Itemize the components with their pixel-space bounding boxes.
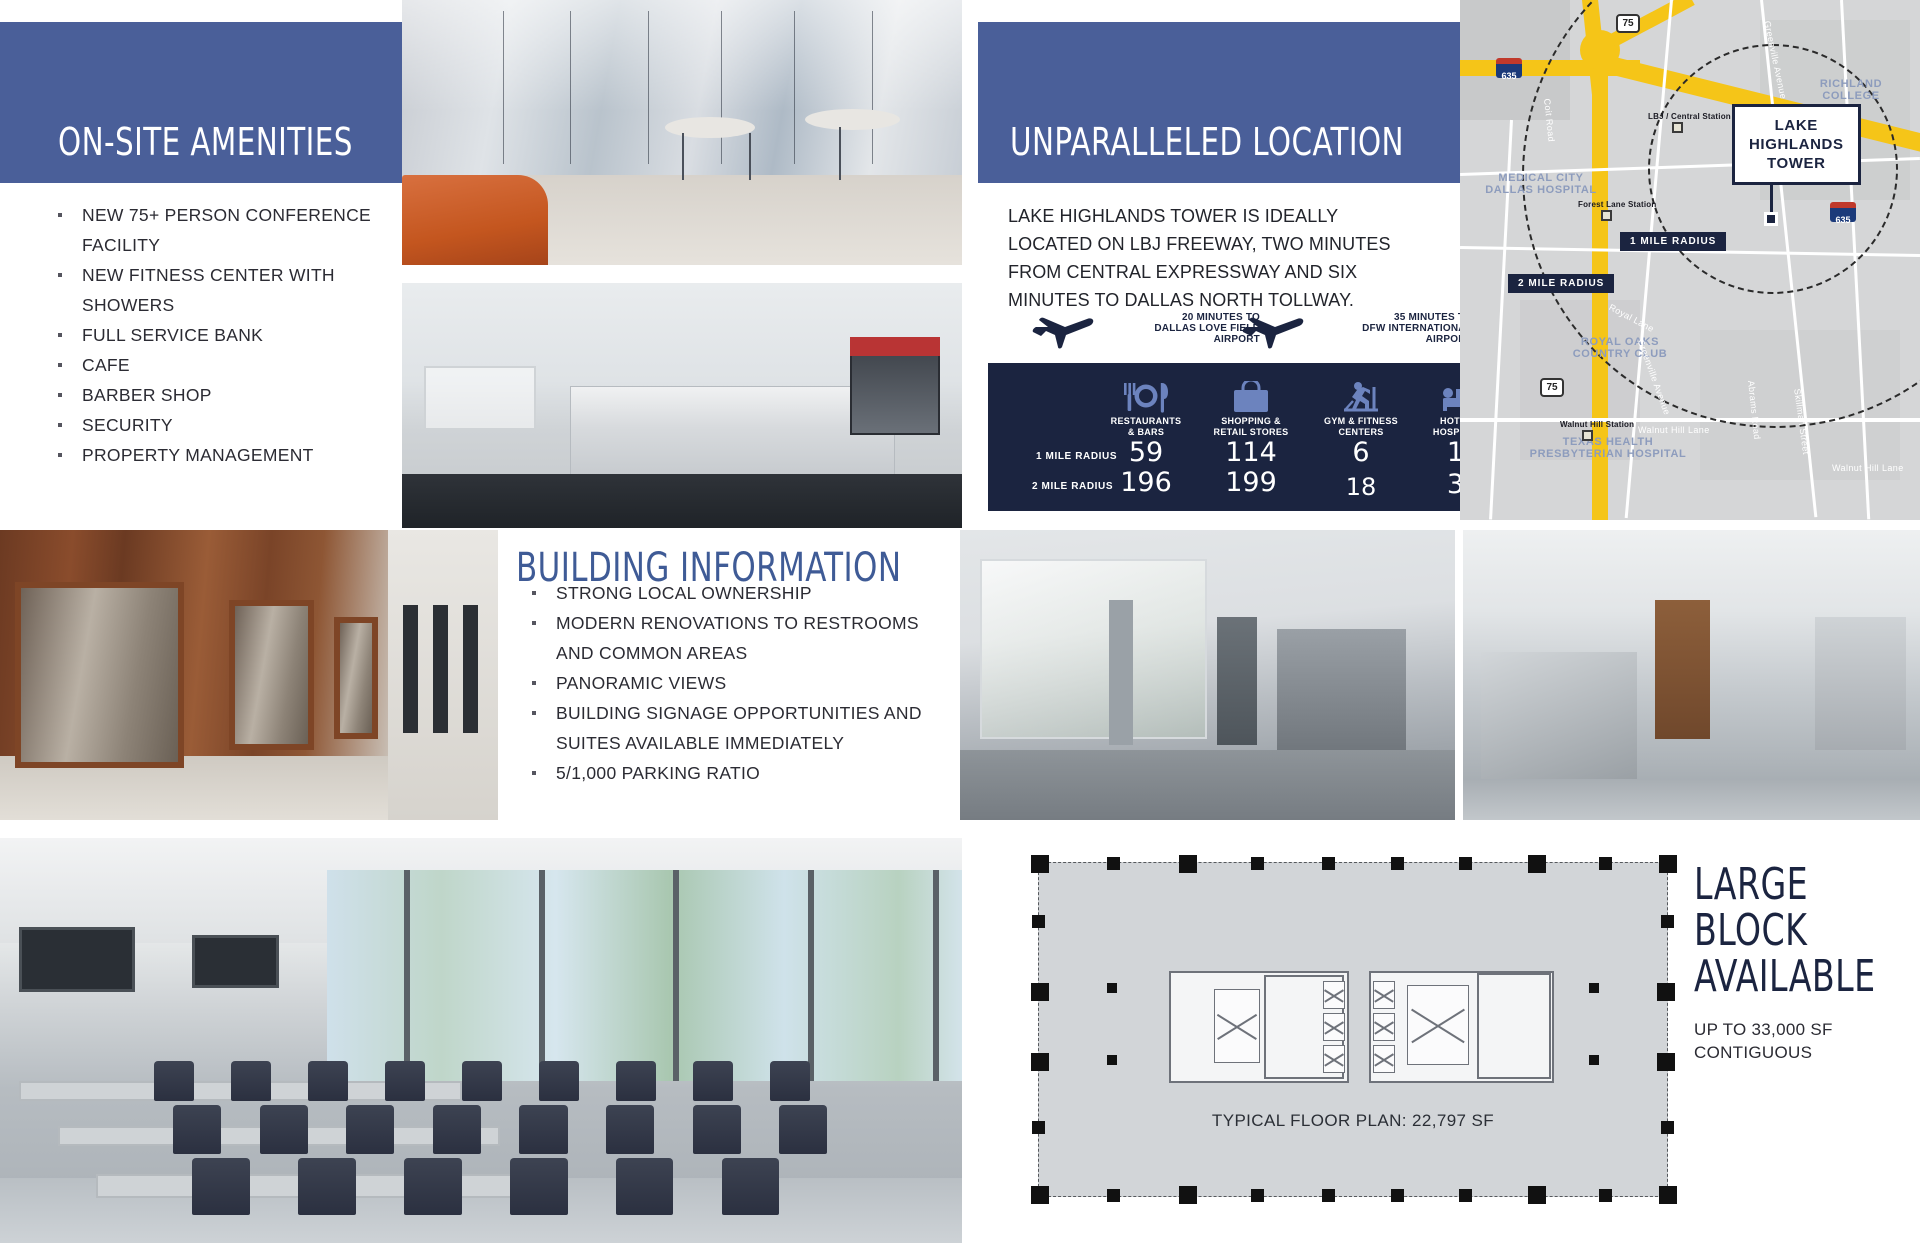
floor-plan-elev-e3 [1373, 1045, 1395, 1073]
demo-value: 59 [1100, 437, 1192, 468]
airplane-icon [1030, 306, 1096, 350]
map-tower-callout: LAKE HIGHLANDS TOWER [1732, 104, 1861, 185]
map-tower-marker [1764, 212, 1778, 226]
floor-plan-elev-e2 [1373, 1013, 1395, 1041]
typical-floor-plan[interactable]: TYPICAL FLOOR PLAN: 22,797 SF [1038, 862, 1668, 1197]
map-station-marker [1582, 430, 1593, 441]
floor-plan-elev-w2 [1323, 1013, 1345, 1041]
list-item: 5/1,000 PARKING RATIO [518, 758, 938, 788]
demo-value: 18 [1310, 473, 1412, 501]
demographics-panel: RESTAURANTS & BARS SHOPPING & RETAIL STO… [988, 363, 1508, 511]
map-tag-1-mile: 1 MILE RADIUS [1620, 232, 1726, 251]
location-title: UNPARALLELED LOCATION [1010, 123, 1404, 161]
highway-shield-75: 75 [1616, 14, 1640, 33]
tower-line-1: LAKE [1749, 116, 1844, 135]
treadmill-icon [1338, 381, 1384, 413]
large-block-sub-1: UP TO 33,000 SF [1694, 1018, 1914, 1041]
map-place-medical-city: MEDICAL CITYDALLAS HOSPITAL [1476, 172, 1606, 196]
brochure-page: ON-SITE AMENITIES NEW 75+ PERSON CONFERE… [0, 0, 1920, 1243]
map-station-marker [1601, 210, 1612, 221]
elevator-lobby-photo [0, 530, 498, 820]
airport-line-3: AIRPORT [1306, 334, 1472, 345]
map-station-label-forest: Forest Lane Station [1578, 200, 1656, 209]
list-item: FULL SERVICE BANK [44, 320, 414, 350]
large-block-callout: LARGE BLOCK AVAILABLE UP TO 33,000 SF CO… [1694, 862, 1914, 1064]
floor-plan-elev-e1 [1373, 981, 1395, 1009]
demo-value: 6 [1310, 437, 1412, 468]
floor-plan-stairs-e [1477, 973, 1551, 1079]
map-street-walnut-hill-2: Walnut Hill Lane [1832, 463, 1904, 473]
airport-love-field-text: 20 MINUTES TO DALLAS LOVE FIELD AIRPORT [1096, 312, 1260, 345]
list-item: SECURITY [44, 410, 414, 440]
demo-value: 114 [1196, 437, 1306, 468]
airport-line-1: 35 MINUTES TO [1306, 312, 1472, 323]
map-station-marker [1672, 122, 1683, 133]
list-item: MODERN RENOVATIONS TO RESTROOMS AND COMM… [518, 608, 938, 668]
floor-plan-caption: TYPICAL FLOOR PLAN: 22,797 SF [1039, 1111, 1667, 1131]
highway-shield-75: 75 [1540, 378, 1564, 397]
list-item: BUILDING SIGNAGE OPPORTUNITIES AND SUITE… [518, 698, 938, 758]
airport-line-3: AIRPORT [1096, 334, 1260, 345]
demo-col-gym: GYM & FITNESS CENTERS [1310, 381, 1412, 438]
airport-line-2: DFW INTERNATIONAL [1306, 323, 1472, 334]
map-place-royal-oaks: ROYAL OAKSCOUNTRY CLUB [1560, 336, 1680, 360]
airport-love-field: 20 MINUTES TO DALLAS LOVE FIELD AIRPORT [1030, 300, 1260, 356]
airport-line-1: 20 MINUTES TO [1096, 312, 1260, 323]
airport-dfw-text: 35 MINUTES TO DFW INTERNATIONAL AIRPORT [1306, 312, 1472, 345]
tower-line-3: TOWER [1749, 154, 1844, 173]
list-item: PROPERTY MANAGEMENT [44, 440, 414, 470]
location-header-bar: UNPARALLELED LOCATION [978, 22, 1460, 183]
map-tag-2-mile: 2 MILE RADIUS [1508, 274, 1614, 293]
large-block-line-3: AVAILABLE [1694, 954, 1879, 1000]
map-station-label-walnut: Walnut Hill Station [1560, 420, 1634, 429]
fitness-center-photo-1 [960, 530, 1455, 820]
list-item: NEW 75+ PERSON CONFERENCE FACILITY [44, 200, 414, 260]
large-block-line-1: LARGE [1694, 862, 1879, 908]
list-item: NEW FITNESS CENTER WITH SHOWERS [44, 260, 414, 320]
list-item: STRONG LOCAL OWNERSHIP [518, 578, 938, 608]
amenities-list: NEW 75+ PERSON CONFERENCE FACILITY NEW F… [44, 200, 414, 470]
amenities-header-bar: ON-SITE AMENITIES [0, 22, 452, 183]
fitness-center-photo-2 [1463, 530, 1920, 820]
demo-col-shopping: SHOPPING & RETAIL STORES [1196, 381, 1306, 438]
highway-shield-635: 635 [1496, 58, 1522, 78]
floor-plan-elev-w3 [1323, 1045, 1345, 1073]
demo-col-restaurants: RESTAURANTS & BARS [1100, 381, 1192, 438]
tower-line-2: HIGHLANDS [1749, 135, 1844, 154]
floor-plan-elev-w1 [1323, 981, 1345, 1009]
demo-label-line1: SHOPPING & [1196, 416, 1306, 427]
demo-label-line1: GYM & FITNESS [1310, 416, 1412, 427]
demo-value: 199 [1196, 467, 1306, 498]
location-paragraph: LAKE HIGHLANDS TOWER IS IDEALLY LOCATED … [1008, 202, 1396, 314]
demo-label-line1: RESTAURANTS [1100, 416, 1192, 427]
map-station-label-lbj: LBJ / Central Station [1648, 112, 1731, 121]
highway-shield-635: 635 [1830, 202, 1856, 222]
floor-plan-shaft [1214, 989, 1260, 1063]
lobby-lounge-photo [402, 0, 962, 265]
large-block-line-2: BLOCK [1694, 908, 1879, 954]
list-item: BARBER SHOP [44, 380, 414, 410]
list-item: PANORAMIC VIEWS [518, 668, 938, 698]
map-place-richland-college: RICHLANDCOLLEGE [1796, 78, 1906, 102]
conference-room-photo [0, 838, 962, 1243]
large-block-sub-2: CONTIGUOUS [1694, 1041, 1914, 1064]
demo-value: 196 [1100, 467, 1192, 498]
location-map[interactable]: 635 75 635 75 RICHLANDCOLLEGE MEDICAL CI… [1460, 0, 1920, 520]
shopping-bag-icon [1229, 381, 1273, 413]
map-place-texas-health: TEXAS HEALTHPRESBYTERIAN HOSPITAL [1528, 436, 1688, 460]
airplane-icon [1240, 306, 1306, 350]
list-item: CAFE [44, 350, 414, 380]
airport-dfw: 35 MINUTES TO DFW INTERNATIONAL AIRPORT [1240, 300, 1472, 356]
airport-line-2: DALLAS LOVE FIELD [1096, 323, 1260, 334]
amenities-title: ON-SITE AMENITIES [58, 123, 353, 161]
building-info-list: STRONG LOCAL OWNERSHIP MODERN RENOVATION… [518, 578, 938, 788]
floor-plan-shaft-e [1407, 985, 1469, 1065]
map-street-walnut-hill: Walnut Hill Lane [1638, 425, 1710, 435]
cafe-photo [402, 283, 962, 528]
restaurant-icon [1120, 381, 1172, 413]
